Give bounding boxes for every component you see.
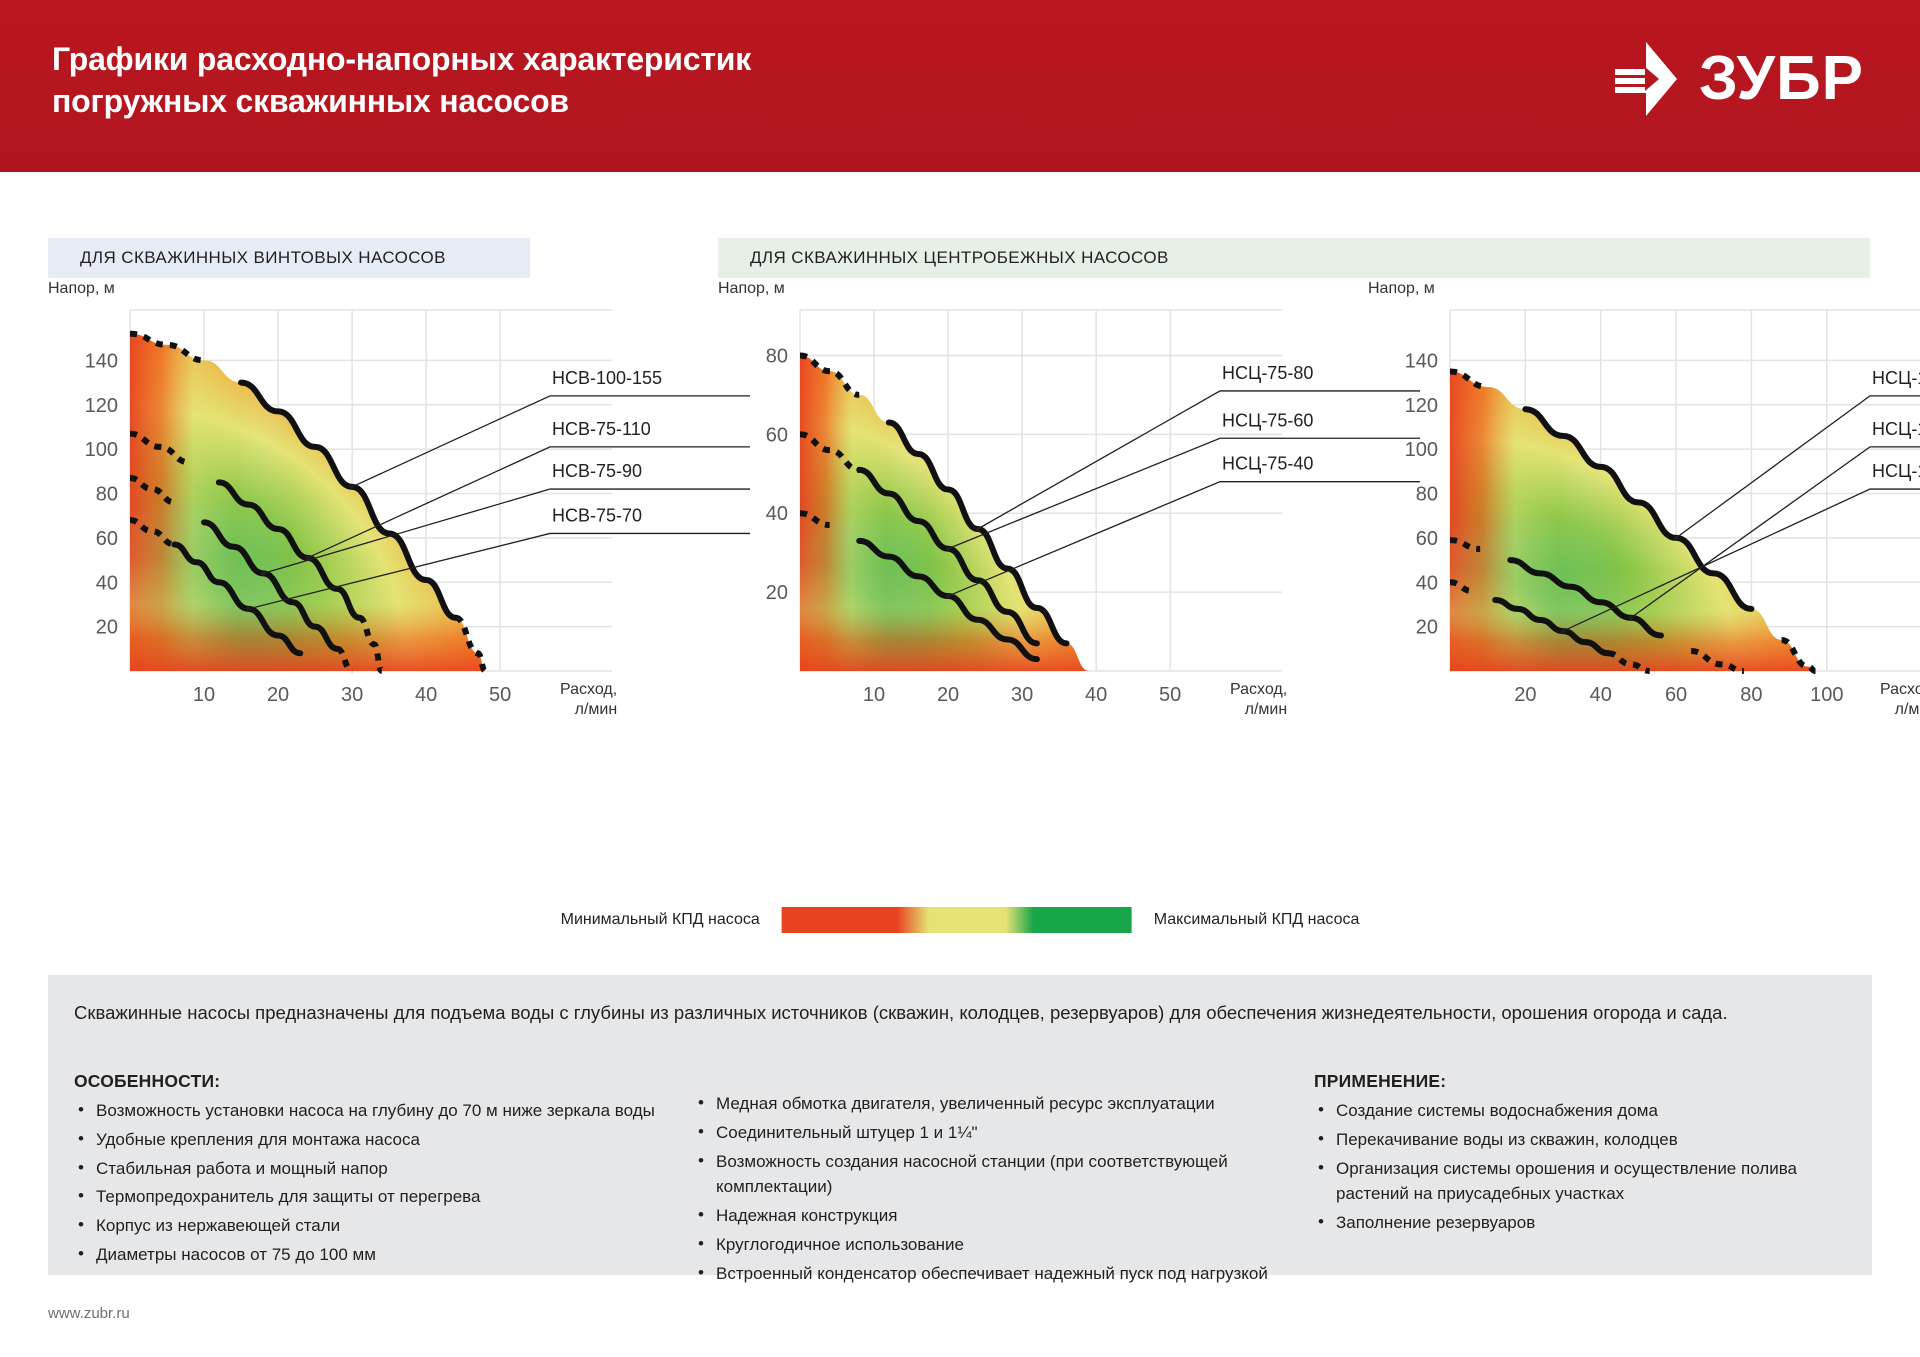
chart3-y-tick-label: 100 [1405, 439, 1438, 461]
chart3-x-tick-label: 80 [1740, 684, 1762, 706]
chart2-x-tick-label: 40 [1085, 684, 1107, 706]
chart1-x-axis-title-line1: Расход, [560, 681, 617, 698]
features-title: ОСОБЕННОСТИ: [74, 1071, 694, 1092]
chart3-x-axis-title: Расход, л/мин [1880, 680, 1920, 720]
features-column-2: Медная обмотка двигателя, увеличенный ре… [694, 1071, 1314, 1290]
chart3-x-tick-label: 20 [1514, 684, 1536, 706]
chart1-x-tick-label: 50 [489, 684, 511, 706]
chart1-series-label-2: НСВ-75-90 [552, 461, 642, 481]
chart2-x-tick-label: 10 [863, 684, 885, 706]
chart3-plot-area: НСЦ-100-135НСЦ-100-60НСЦ-100-40204060801… [1450, 316, 1872, 671]
chart3-y-tick-label: 20 [1416, 617, 1438, 639]
chart3-y-tick-label: 140 [1405, 350, 1438, 372]
brand-name: ЗУБР [1699, 43, 1864, 115]
features-list-2: Медная обмотка двигателя, увеличенный ре… [694, 1091, 1314, 1287]
feature-item: Медная обмотка двигателя, увеличенный ре… [694, 1091, 1314, 1117]
zubr-diamond-icon [1615, 42, 1677, 116]
chart1-series-label-3: НСВ-75-70 [552, 505, 642, 525]
section-heading-screw-pumps: ДЛЯ СКВАЖИННЫХ ВИНТОВЫХ НАСОСОВ [48, 238, 530, 278]
chart1-y-tick-label: 80 [96, 484, 118, 506]
chart3-series-label-1: НСЦ-100-60 [1872, 419, 1920, 439]
feature-item: Корпус из нержавеющей стали [74, 1213, 694, 1239]
chart1-x-tick-label: 20 [267, 684, 289, 706]
chart2-y-axis-title: Напор, м [718, 280, 785, 298]
chart2-y-tick-label: 60 [766, 424, 788, 446]
chart2-callout-anchor-0 [976, 527, 980, 531]
chart3-series-label-0: НСЦ-100-135 [1872, 368, 1920, 388]
section-heading-centrifugal-pumps: ДЛЯ СКВАЖИННЫХ ЦЕНТРОБЕЖНЫХ НАСОСОВ [718, 238, 1870, 278]
chart1-plot-area: НСВ-100-155НСВ-75-110НСВ-75-90НСВ-75-702… [130, 316, 552, 671]
chart2-y-tick-label: 80 [766, 345, 788, 367]
feature-item: Круглогодичное использование [694, 1232, 1314, 1258]
feature-item: Возможность установки насоса на глубину … [74, 1098, 694, 1124]
feature-item: Термопредохранитель для защиты от перегр… [74, 1184, 694, 1210]
chart3-y-tick-label: 80 [1416, 484, 1438, 506]
chart2-callout-anchor-2 [946, 594, 950, 598]
page-title-line1: Графики расходно-напорных характеристик [52, 41, 751, 77]
page-header: Графики расходно-напорных характеристик … [0, 0, 1920, 172]
chart1-callout-anchor-3 [246, 607, 250, 611]
section-heading-screw-label: ДЛЯ СКВАЖИННЫХ ВИНТОВЫХ НАСОСОВ [48, 238, 530, 278]
efficiency-legend-max-label: Максимальный КПД насоса [1154, 911, 1360, 929]
chart3-x-tick-label: 60 [1665, 684, 1687, 706]
chart1-y-axis-title: Напор, м [48, 280, 115, 298]
section-heading-centrifugal-label: ДЛЯ СКВАЖИННЫХ ЦЕНТРОБЕЖНЫХ НАСОСОВ [718, 238, 1870, 278]
features-column-1: ОСОБЕННОСТИ: Возможность установки насос… [74, 1071, 694, 1290]
feature-item: Встроенный конденсатор обеспечивает наде… [694, 1261, 1314, 1287]
chart-screw-pumps: Напор, м НСВ-100-155НСВ-75-110НСВ-75-90Н… [48, 300, 668, 860]
efficiency-gradient-bar [782, 907, 1132, 933]
chart2-y-tick-label: 20 [766, 582, 788, 604]
brand-logo: ЗУБР [1615, 40, 1864, 118]
panel-columns: ОСОБЕННОСТИ: Возможность установки насос… [74, 1071, 1854, 1290]
chart3-y-tick-label: 60 [1416, 528, 1438, 550]
chart3-x-tick-label: 100 [1810, 684, 1843, 706]
feature-item: Диаметры насосов от 75 до 100 мм [74, 1242, 694, 1268]
chart1-series-label-0: НСВ-100-155 [552, 368, 662, 388]
feature-item: Стабильная работа и мощный напор [74, 1156, 694, 1182]
chart1-x-axis-title-line2: л/мин [575, 701, 618, 718]
efficiency-legend-min-label: Минимальный КПД насоса [561, 911, 760, 929]
feature-item: Удобные крепления для монтажа насоса [74, 1127, 694, 1153]
chart3-x-tick-label: 40 [1590, 684, 1612, 706]
feature-item: Надежная конструкция [694, 1203, 1314, 1229]
efficiency-legend: Минимальный КПД насоса Максимальный КПД … [0, 900, 1920, 940]
chart2-y-tick-label: 40 [766, 503, 788, 525]
chart3-y-tick-label: 120 [1405, 395, 1438, 417]
chart-centrifugal-75-pumps: Напор, м НСЦ-75-80НСЦ-75-60НСЦ-75-402040… [718, 300, 1338, 860]
chart1-svg: НСВ-100-155НСВ-75-110НСВ-75-90НСВ-75-702… [130, 316, 762, 741]
chart2-callout-anchor-1 [946, 547, 950, 551]
chart1-x-tick-label: 10 [193, 684, 215, 706]
chart1-x-tick-label: 40 [415, 684, 437, 706]
page-title-line2: погружных скважинных насосов [52, 80, 1152, 122]
chart2-x-tick-label: 20 [937, 684, 959, 706]
chart3-x-axis-title-line2: л/мин [1895, 701, 1920, 718]
application-item: Заполнение резервуаров [1314, 1210, 1854, 1236]
application-title: ПРИМЕНЕНИЕ: [1314, 1071, 1854, 1092]
application-item: Организация системы орошения и осуществл… [1314, 1156, 1854, 1208]
chart1-y-tick-label: 100 [85, 439, 118, 461]
chart2-x-tick-label: 30 [1011, 684, 1033, 706]
chart1-callout-anchor-0 [350, 485, 354, 489]
application-item: Перекачивание воды из скважин, колодцев [1314, 1127, 1854, 1153]
chart3-callout-anchor-2 [1561, 629, 1565, 633]
panel-intro-text: Скважинные насосы предназначены для подъ… [74, 999, 1854, 1028]
chart3-svg: НСЦ-100-135НСЦ-100-60НСЦ-100-40204060801… [1450, 316, 1920, 741]
chart-centrifugal-100-pumps: Напор, м НСЦ-100-135НСЦ-100-60НСЦ-100-40… [1268, 300, 1888, 860]
chart2-plot-area: НСЦ-75-80НСЦ-75-60НСЦ-75-402040608010203… [800, 316, 1222, 671]
chart1-y-tick-label: 140 [85, 350, 118, 372]
footer-url: www.zubr.ru [48, 1305, 130, 1322]
chart3-y-axis-title: Напор, м [1368, 280, 1435, 298]
chart1-series-label-1: НСВ-75-110 [552, 419, 651, 439]
chart3-x-axis-title-line1: Расход, [1880, 681, 1920, 698]
chart1-y-tick-label: 20 [96, 617, 118, 639]
chart1-callout-anchor-2 [261, 571, 265, 575]
chart1-y-tick-label: 60 [96, 528, 118, 550]
chart1-y-tick-label: 120 [85, 395, 118, 417]
feature-item: Возможность создания насосной станции (п… [694, 1149, 1314, 1201]
applications-list: Создание системы водоснабжения домаПерек… [1314, 1098, 1854, 1236]
chart2-x-tick-label: 50 [1159, 684, 1181, 706]
features-list-1: Возможность установки насоса на глубину … [74, 1098, 694, 1268]
chart3-callout-anchor-1 [1629, 616, 1633, 620]
chart3-y-tick-label: 40 [1416, 572, 1438, 594]
chart3-efficiency-field-bottom-wash [1450, 371, 1815, 671]
info-panel: Скважинные насосы предназначены для подъ… [48, 975, 1872, 1275]
page-title: Графики расходно-напорных характеристик … [52, 38, 1152, 122]
applications-column: ПРИМЕНЕНИЕ: Создание системы водоснабжен… [1314, 1071, 1854, 1290]
application-item: Создание системы водоснабжения дома [1314, 1098, 1854, 1124]
chart3-series-label-2: НСЦ-100-40 [1872, 461, 1920, 481]
feature-item: Соединительный штуцер 1 и 1¼" [694, 1120, 1314, 1146]
chart1-x-axis-title: Расход, л/мин [560, 680, 617, 720]
chart1-x-tick-label: 30 [341, 684, 363, 706]
chart1-y-tick-label: 40 [96, 572, 118, 594]
chart3-callout-anchor-0 [1674, 536, 1678, 540]
